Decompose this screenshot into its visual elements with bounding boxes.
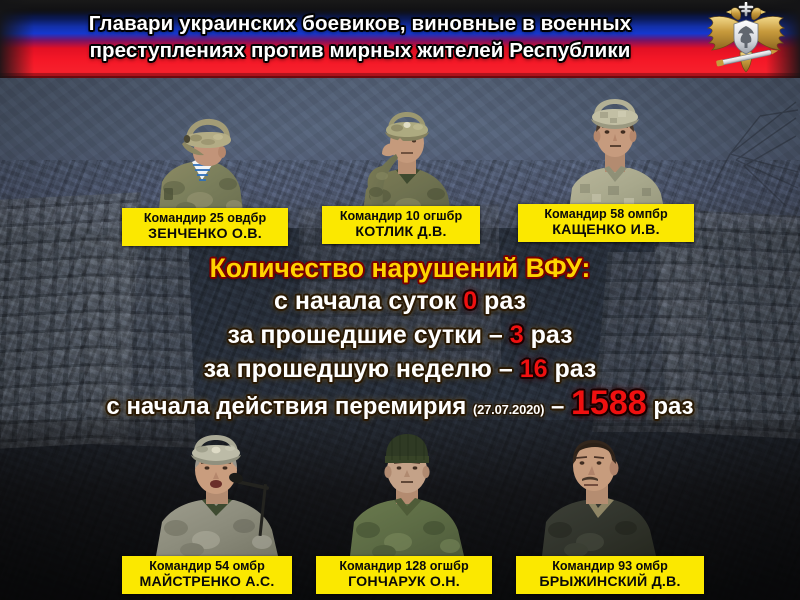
stats-line-today-label: с начала суток <box>274 287 456 315</box>
stats-line-week: за прошедшую неделю – 16 раз <box>0 352 800 386</box>
stats-line-day: за прошедшие сутки – 3 раз <box>0 318 800 352</box>
name-plate-kashchenko: Командир 58 омпбр КАЩЕНКО И.В. <box>518 204 694 242</box>
commander-photo-kotlik <box>352 96 462 218</box>
stats-line-today-value: 0 <box>463 287 477 315</box>
plate-unit: Командир 93 омбр <box>524 559 696 575</box>
plate-unit: Командир 54 омбр <box>130 559 284 575</box>
stats-line-truce-unit: раз <box>653 393 693 420</box>
commander-photo-zenchenko <box>140 96 258 218</box>
plate-unit: Командир 10 огшбр <box>330 209 472 225</box>
violations-statistics-block: Количество нарушений ВФУ: с начала суток… <box>0 252 800 427</box>
stats-truce-date: (27.07.2020) <box>473 402 544 417</box>
commander-photo-goncharuk <box>346 430 468 556</box>
stats-line-truce-value: 1588 <box>571 384 647 422</box>
plate-unit: Командир 25 овдбр <box>130 211 280 227</box>
plate-name: ЗЕНЧЕНКО О.В. <box>130 227 280 243</box>
stats-line-day-value: 3 <box>510 321 524 349</box>
plate-unit: Командир 58 омпбр <box>526 207 686 223</box>
name-plate-goncharuk: Командир 128 огшбр ГОНЧАРУК О.Н. <box>316 556 492 594</box>
page-title: Главари украинских боевиков, виновные в … <box>40 10 680 64</box>
plate-name: МАЙСТРЕНКО А.С. <box>130 575 284 591</box>
infographic-poster: Командир 25 овдбр ЗЕНЧЕНКО О.В. Командир… <box>0 0 800 600</box>
plate-name: КОТЛИК Д.В. <box>330 225 472 241</box>
header-banner-left-shadow <box>0 0 34 78</box>
stats-truce-dash: – <box>551 393 564 420</box>
stats-line-today-unit: раз <box>484 287 526 315</box>
name-plate-maystrenko: Командир 54 омбр МАЙСТРЕНКО А.С. <box>122 556 292 594</box>
commander-photo-maystrenko <box>152 428 284 556</box>
plate-unit: Командир 128 огшбр <box>324 559 484 575</box>
commander-photo-bryzhinskiy <box>534 426 660 556</box>
stats-line-truce-label: с начала действия перемирия <box>106 393 466 420</box>
stats-line-today: с начала суток 0 раз <box>0 284 800 318</box>
plate-name: ГОНЧАРУК О.Н. <box>324 575 484 591</box>
stats-heading: Количество нарушений ВФУ: <box>0 252 800 284</box>
name-plate-zenchenko: Командир 25 овдбр ЗЕНЧЕНКО О.В. <box>122 208 288 246</box>
commander-photo-kashchenko <box>556 88 676 218</box>
stats-line-day-unit: раз <box>531 321 573 349</box>
stats-line-truce: с начала действия перемирия (27.07.2020)… <box>0 386 800 427</box>
stats-line-day-label: за прошедшие сутки – <box>227 321 502 349</box>
stats-line-week-value: 16 <box>520 355 548 383</box>
plate-name: КАЩЕНКО И.В. <box>526 223 686 239</box>
name-plate-bryzhinskiy: Командир 93 омбр БРЫЖИНСКИЙ Д.В. <box>516 556 704 594</box>
double-headed-eagle-emblem <box>700 2 792 76</box>
stats-line-week-unit: раз <box>554 355 596 383</box>
plate-name: БРЫЖИНСКИЙ Д.В. <box>524 575 696 591</box>
name-plate-kotlik: Командир 10 огшбр КОТЛИК Д.В. <box>322 206 480 244</box>
stats-line-week-label: за прошедшую неделю – <box>204 355 513 383</box>
